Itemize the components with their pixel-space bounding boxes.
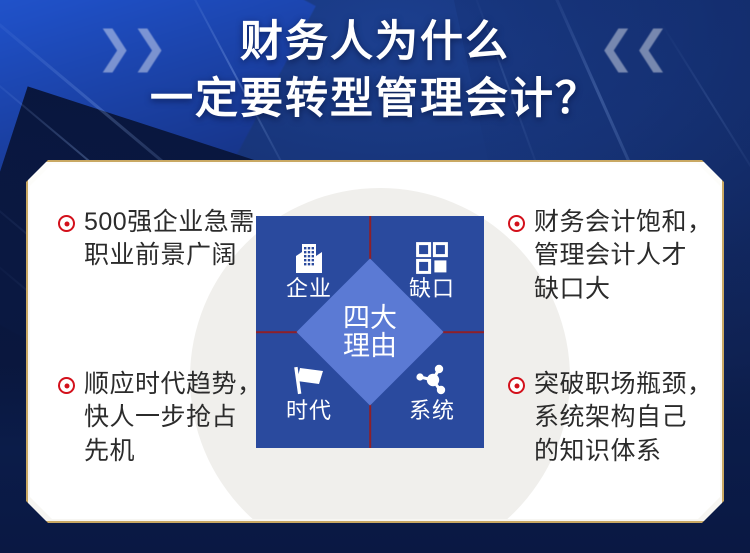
flag-icon bbox=[291, 363, 327, 397]
four-reasons-diagram: 企业 缺口 时代 bbox=[256, 216, 484, 448]
center-diamond-label: 四大 理由 bbox=[343, 304, 397, 360]
bullet-marker-icon bbox=[508, 377, 525, 394]
quadrant-label: 系统 bbox=[409, 399, 455, 423]
bullet-top-left: 500强企业急需， 职业前景广阔 bbox=[58, 206, 280, 273]
network-share-icon bbox=[415, 363, 449, 397]
bullet-text: 财务会计饱和， 管理会计人才 缺口大 bbox=[534, 206, 713, 306]
office-building-icon bbox=[291, 241, 327, 275]
title-line-1: 财务人为什么 bbox=[0, 14, 750, 71]
quadrant-label: 缺口 bbox=[409, 277, 455, 301]
grid-squares-icon bbox=[416, 241, 448, 275]
bullet-marker-icon bbox=[508, 215, 525, 232]
bullet-top-right: 财务会计饱和， 管理会计人才 缺口大 bbox=[508, 206, 713, 306]
bullet-text: 突破职场瓶颈， 系统架构自己 的知识体系 bbox=[534, 368, 713, 468]
bullet-bottom-right: 突破职场瓶颈， 系统架构自己 的知识体系 bbox=[508, 368, 713, 468]
bullet-text: 顺应时代趋势， 快人一步抢占 先机 bbox=[84, 368, 263, 468]
title-line-2: 一定要转型管理会计？ bbox=[0, 71, 750, 128]
bullet-marker-icon bbox=[58, 215, 75, 232]
poster-canvas: ❯❯ ❮❮ 财务人为什么 一定要转型管理会计？ 500强企业急需， 职业前景广阔… bbox=[0, 0, 750, 553]
page-title: 财务人为什么 一定要转型管理会计？ bbox=[0, 14, 750, 128]
quadrant-label: 企业 bbox=[286, 277, 332, 301]
quadrant-label: 时代 bbox=[286, 399, 332, 423]
bullet-marker-icon bbox=[58, 377, 75, 394]
bullet-text: 500强企业急需， 职业前景广阔 bbox=[84, 206, 280, 273]
bullet-bottom-left: 顺应时代趋势， 快人一步抢占 先机 bbox=[58, 368, 263, 468]
